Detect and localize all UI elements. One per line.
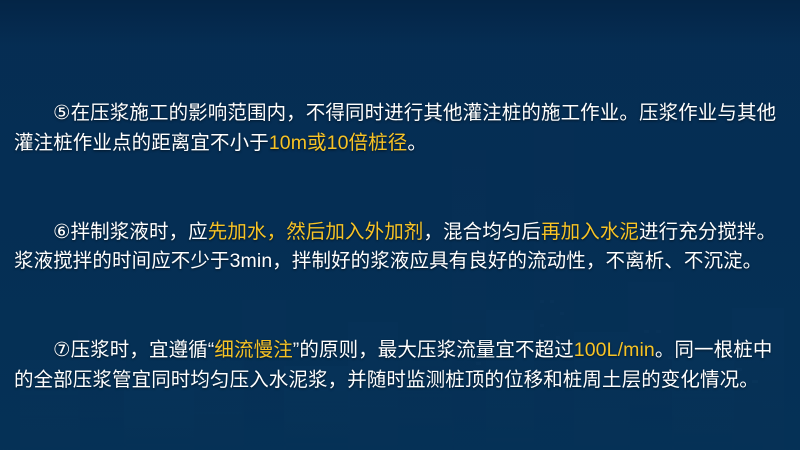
- presentation-slide: ⑤在压浆施工的影响范围内，不得同时进行其他灌注桩的施工作业。压浆作业与其他灌注桩…: [0, 0, 800, 450]
- text-run-2-highlighted: 细流慢注: [214, 339, 292, 361]
- paragraph-6: ⑥拌制浆液时，应先加水，然后加入外加剂，混合均匀后再加入水泥进行充分搅拌。浆液搅…: [14, 218, 786, 277]
- slide-body-text: ⑤在压浆施工的影响范围内，不得同时进行其他灌注桩的施工作业。压浆作业与其他灌注桩…: [14, 40, 786, 450]
- text-run-3: ，混合均匀后: [423, 221, 541, 243]
- text-run-1: ⑦压浆时，宜遵循“: [53, 339, 214, 361]
- text-run-1: ⑥拌制浆液时，应: [53, 221, 208, 243]
- text-run-2-highlighted: 10m或10倍桩径: [269, 132, 408, 154]
- text-run-4-highlighted: 再加入水泥: [541, 221, 639, 243]
- text-run-4-highlighted: 100L/min: [574, 339, 655, 361]
- text-run-2-highlighted: 先加水，然后加入外加剂: [208, 221, 424, 243]
- paragraph-5: ⑤在压浆施工的影响范围内，不得同时进行其他灌注桩的施工作业。压浆作业与其他灌注桩…: [14, 99, 786, 158]
- paragraph-7: ⑦压浆时，宜遵循“细流慢注”的原则，最大压浆流量宜不超过100L/min。同一根…: [14, 336, 786, 395]
- text-run-3: ”的原则，最大压浆流量宜不超过: [293, 339, 574, 361]
- text-run-3: 。: [407, 132, 427, 154]
